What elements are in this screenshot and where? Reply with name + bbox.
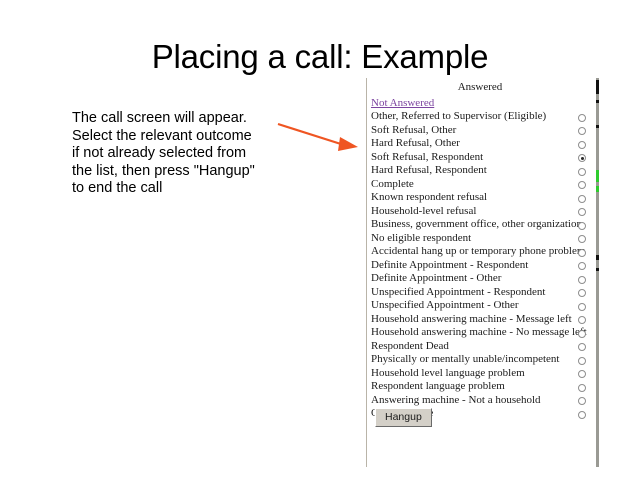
hangup-button[interactable]: Hangup	[375, 408, 432, 427]
callout-line: if not already selected from	[72, 145, 277, 163]
panel-heading-answered: Answered	[367, 81, 593, 93]
outcome-row[interactable]: No eligible respondent	[367, 232, 597, 246]
scroll-mark-green	[596, 186, 599, 192]
call-screen-panel: Answered Not Answered Other, Referred to…	[366, 78, 598, 467]
outcome-label: Soft Refusal, Other	[371, 124, 456, 138]
outcome-radio[interactable]	[578, 343, 586, 351]
outcome-label: Definite Appointment - Other	[371, 272, 501, 286]
outcome-row[interactable]: Household answering machine - Message le…	[367, 313, 597, 327]
outcome-row[interactable]: Household level language problem	[367, 367, 597, 381]
outcome-radio[interactable]	[578, 114, 586, 122]
outcome-label: Household level language problem	[371, 367, 525, 381]
outcome-row[interactable]: Soft Refusal, Other	[367, 124, 597, 138]
outcome-radio[interactable]	[578, 154, 586, 162]
outcome-radio[interactable]	[578, 208, 586, 216]
outcome-label: Respondent language problem	[371, 380, 505, 394]
outcome-label: Unspecified Appointment - Other	[371, 299, 519, 313]
scroll-mark	[596, 100, 599, 103]
panel-scrollbar-strip[interactable]	[596, 78, 599, 467]
outcome-label: Complete	[371, 178, 414, 192]
outcome-radio[interactable]	[578, 411, 586, 419]
outcome-radio[interactable]	[578, 195, 586, 203]
outcome-radio[interactable]	[578, 222, 586, 230]
outcome-label: Unspecified Appointment - Respondent	[371, 286, 545, 300]
outcome-row[interactable]: Accidental hang up or temporary phone pr…	[367, 245, 597, 259]
scroll-mark	[596, 268, 599, 271]
outcome-radio[interactable]	[578, 235, 586, 243]
outcome-row[interactable]: Other, Referred to Supervisor (Eligible)	[367, 110, 597, 124]
slide-canvas: Placing a call: Example The call screen …	[0, 0, 640, 480]
outcome-label: Respondent Dead	[371, 340, 449, 354]
outcome-label: Accidental hang up or temporary phone pr…	[371, 245, 585, 259]
outcome-list: Other, Referred to Supervisor (Eligible)…	[367, 110, 597, 421]
outcome-radio[interactable]	[578, 357, 586, 365]
outcome-label: Hard Refusal, Other	[371, 137, 460, 151]
outcome-label: Other, Referred to Supervisor (Eligible)	[371, 110, 546, 124]
outcome-radio[interactable]	[578, 276, 586, 284]
outcome-radio[interactable]	[578, 397, 586, 405]
outcome-radio[interactable]	[578, 370, 586, 378]
outcome-row[interactable]: Household answering machine - No message…	[367, 326, 597, 340]
callout-line: The call screen will appear.	[72, 110, 277, 128]
callout-line: the list, then press "Hangup"	[72, 163, 277, 181]
outcome-row[interactable]: Definite Appointment - Other	[367, 272, 597, 286]
outcome-label: Known respondent refusal	[371, 191, 487, 205]
outcome-label: Answering machine - Not a household	[371, 394, 541, 408]
outcome-row[interactable]: Respondent language problem	[367, 380, 597, 394]
outcome-radio[interactable]	[578, 249, 586, 257]
outcome-radio[interactable]	[578, 181, 586, 189]
outcome-row[interactable]: Hard Refusal, Other	[367, 137, 597, 151]
outcome-row[interactable]: Business, government office, other organ…	[367, 218, 597, 232]
outcome-radio[interactable]	[578, 289, 586, 297]
page-title: Placing a call: Example	[0, 38, 640, 76]
callout-line: Select the relevant outcome	[72, 128, 277, 146]
outcome-label: Physically or mentally unable/incompeten…	[371, 353, 559, 367]
outcome-label: Household answering machine - No message…	[371, 326, 587, 340]
outcome-row[interactable]: Answering machine - Not a household	[367, 394, 597, 408]
outcome-label: Business, government office, other organ…	[371, 218, 582, 232]
arrow-annotation-icon	[276, 118, 362, 158]
outcome-row[interactable]: Unspecified Appointment - Other	[367, 299, 597, 313]
outcome-row[interactable]: Hard Refusal, Respondent	[367, 164, 597, 178]
outcome-row[interactable]: Unspecified Appointment - Respondent	[367, 286, 597, 300]
outcome-label: Household answering machine - Message le…	[371, 313, 572, 327]
outcome-label: Hard Refusal, Respondent	[371, 164, 487, 178]
outcome-row[interactable]: Household-level refusal	[367, 205, 597, 219]
outcome-row[interactable]: Complete	[367, 178, 597, 192]
scroll-mark	[596, 80, 599, 94]
outcome-row[interactable]: Soft Refusal, Respondent	[367, 151, 597, 165]
outcome-radio[interactable]	[578, 127, 586, 135]
outcome-row[interactable]: Physically or mentally unable/incompeten…	[367, 353, 597, 367]
outcome-row[interactable]: Known respondent refusal	[367, 191, 597, 205]
outcome-radio[interactable]	[578, 262, 586, 270]
outcome-radio[interactable]	[578, 330, 586, 338]
outcome-radio[interactable]	[578, 384, 586, 392]
outcome-label: Household-level refusal	[371, 205, 476, 219]
outcome-radio[interactable]	[578, 316, 586, 324]
outcome-radio[interactable]	[578, 303, 586, 311]
outcome-row[interactable]: Definite Appointment - Respondent	[367, 259, 597, 273]
outcome-radio[interactable]	[578, 141, 586, 149]
scroll-mark	[596, 255, 599, 260]
outcome-label: Definite Appointment - Respondent	[371, 259, 528, 273]
not-answered-link[interactable]: Not Answered	[371, 97, 434, 109]
outcome-label: No eligible respondent	[371, 232, 471, 246]
callout-text: The call screen will appear. Select the …	[72, 110, 277, 198]
outcome-row[interactable]: Respondent Dead	[367, 340, 597, 354]
outcome-label: Soft Refusal, Respondent	[371, 151, 483, 165]
scroll-mark	[596, 125, 599, 128]
callout-line: to end the call	[72, 180, 277, 198]
outcome-radio[interactable]	[578, 168, 586, 176]
scroll-mark-green	[596, 170, 599, 182]
